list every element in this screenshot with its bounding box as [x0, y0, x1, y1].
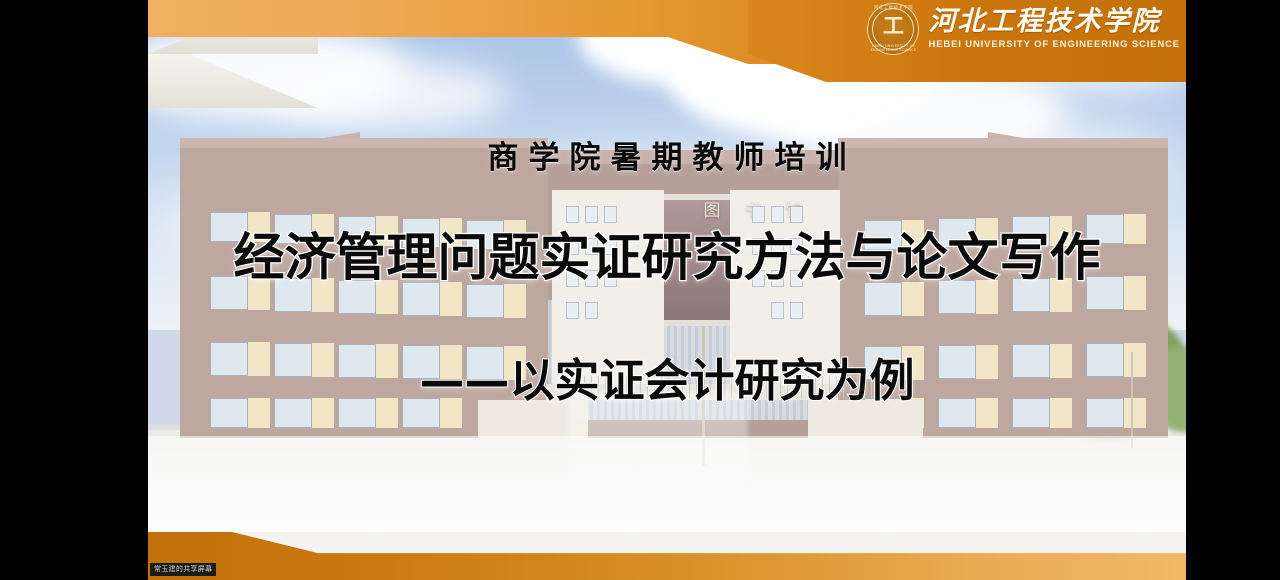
university-logo: 河北工程技术学院 工 HEBEI UNIVERSITY OF ENGINEERI…	[867, 3, 1180, 55]
seal-bottom-arc-text: HEBEI UNIVERSITY OF ENGINEERING SCIENCE	[867, 44, 919, 52]
university-name-cn: 河北工程技术学院	[928, 8, 1180, 36]
seal-glyph-text: 工	[867, 16, 919, 37]
screen-share-viewport: 图书馆	[0, 0, 1280, 580]
seal-top-arc-text: 河北工程技术学院	[867, 5, 919, 11]
slide-title: 经济管理问题实证研究方法与论文写作	[148, 216, 1186, 290]
presentation-slide: 图书馆	[148, 0, 1186, 580]
cloud-shape	[268, 60, 508, 130]
slide-subtitle: ——以实证会计研究为例	[148, 344, 1186, 409]
letterbox-bar-left	[0, 0, 148, 580]
university-name-en: HEBEI UNIVERSITY OF ENGINEERING SCIENCE	[928, 39, 1180, 50]
university-seal-icon: 河北工程技术学院 工 HEBEI UNIVERSITY OF ENGINEERI…	[867, 3, 919, 55]
university-name-block: 河北工程技术学院 HEBEI UNIVERSITY OF ENGINEERING…	[928, 8, 1180, 50]
plaza-haze	[148, 436, 1186, 532]
screen-share-indicator: 常玉建的共享屏幕	[150, 563, 216, 576]
slide-kicker: 商学院暑期教师培训	[148, 132, 1186, 177]
letterbox-bar-right	[1186, 0, 1280, 580]
